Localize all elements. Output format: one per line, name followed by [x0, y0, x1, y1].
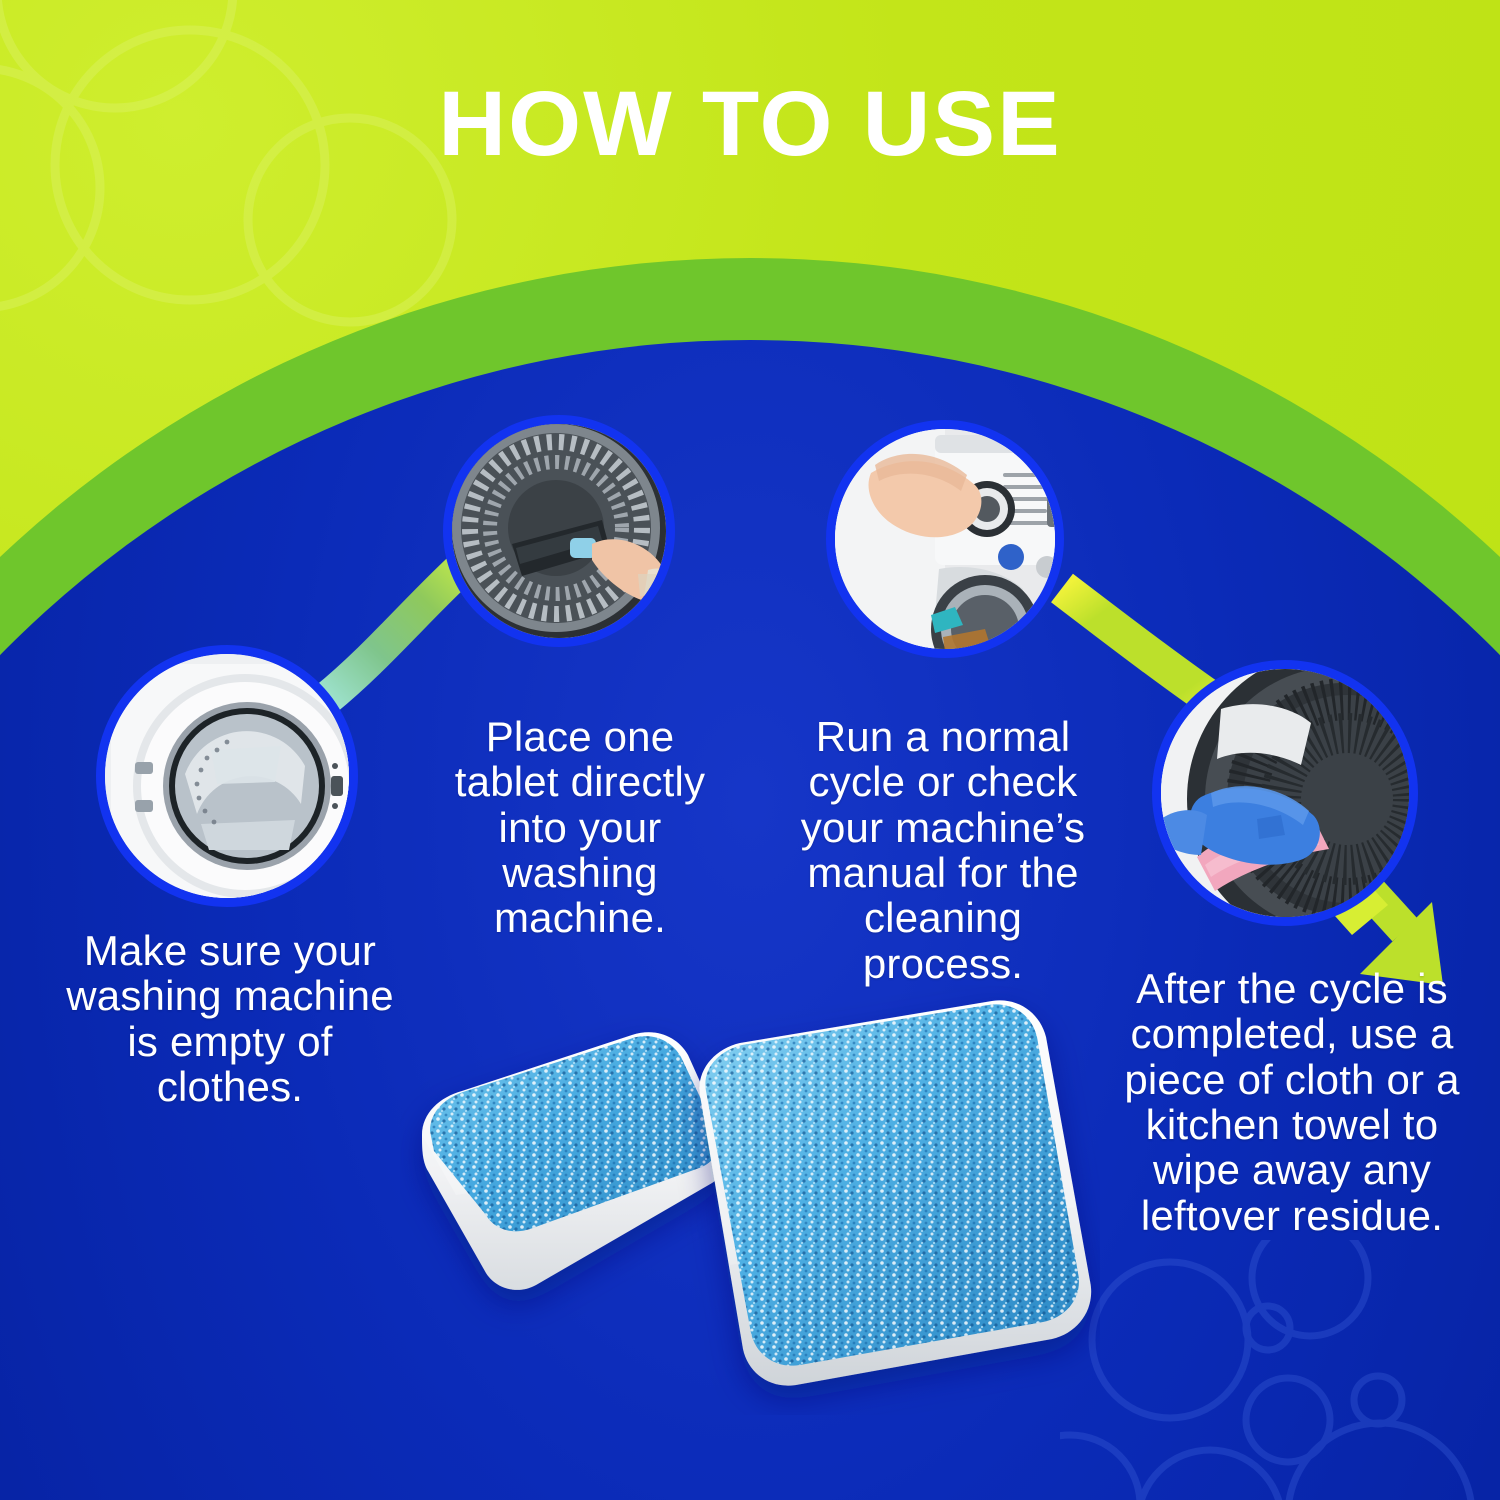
step-2-caption: Place one tablet directly into your wash… — [430, 714, 730, 941]
step-1-caption: Make sure your washing machine is empty … — [60, 928, 400, 1109]
tablet-left — [422, 1032, 728, 1290]
step-3-caption: Run a normal cycle or check your machine… — [778, 714, 1108, 986]
page-title: HOW TO USE — [0, 78, 1500, 170]
infographic-poster: HOW TO USE — [0, 0, 1500, 1500]
step-2-photo — [443, 415, 675, 647]
product-tablets — [400, 985, 1100, 1415]
step-1-photo — [96, 645, 358, 907]
tablet-right — [699, 1000, 1091, 1385]
step-4-photo — [1152, 660, 1418, 926]
step-3-photo — [826, 420, 1064, 658]
step-4-caption: After the cycle is completed, use a piec… — [1108, 966, 1476, 1238]
